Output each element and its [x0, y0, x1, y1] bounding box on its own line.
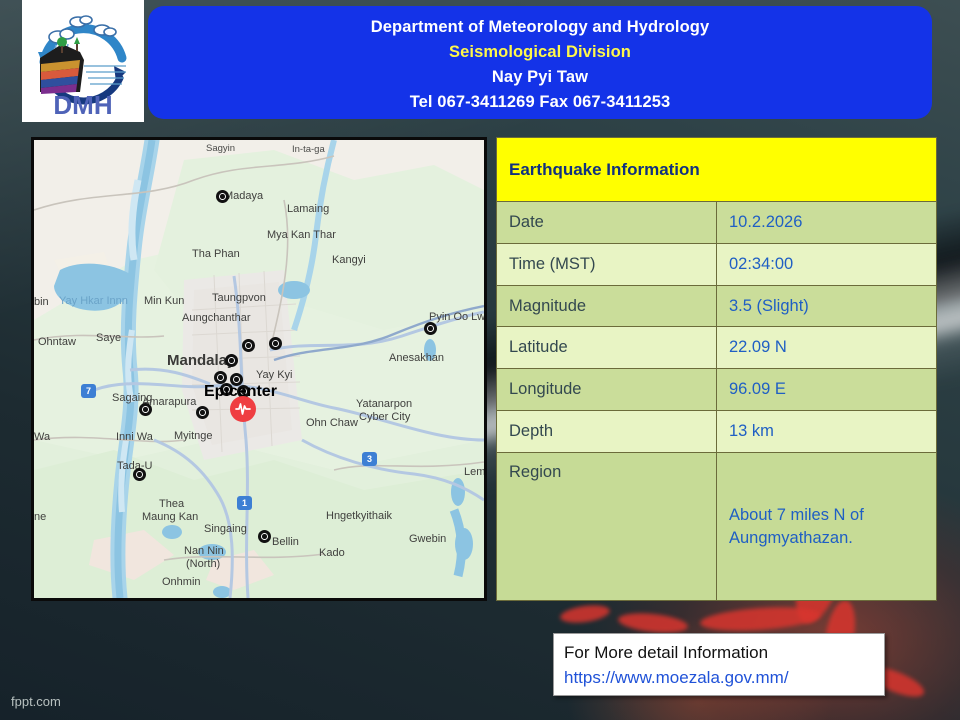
table-title-row: Earthquake Information — [497, 138, 937, 202]
slide-canvas: DMH Department of Meteorology and Hydrol… — [0, 0, 960, 720]
header-line-contact: Tel 067-3411269 Fax 067-3411253 — [410, 90, 671, 115]
map-place-label: Anesakhan — [389, 352, 444, 364]
map-place-label: Ohn Chaw — [306, 417, 358, 429]
map-place-label: Lamaing — [287, 203, 329, 215]
map-place-label: Saye — [96, 332, 121, 344]
header-line-org: Department of Meteorology and Hydrology — [371, 15, 710, 40]
map-place-label: ne — [34, 511, 46, 523]
header-line-division: Seismological Division — [449, 40, 631, 65]
table-row-region: Region About 7 miles N of Aungmyathazan. — [497, 453, 937, 601]
header-banner: Department of Meteorology and Hydrology … — [148, 6, 932, 119]
row-value-date: 10.2.2026 — [717, 202, 937, 244]
table-row-latitude: Latitude 22.09 N — [497, 327, 937, 369]
map-labels-layer: SagyinIn-ta-gaMadayaLamaingMya Kan TharT… — [34, 140, 484, 598]
map-place-label: Maung Kan — [142, 511, 198, 523]
map-place-label: Kangyi — [332, 254, 366, 266]
map-place-label: Yay Hkar Innn — [59, 295, 128, 307]
map-station-marker[interactable] — [269, 337, 282, 350]
map-place-label: Thea — [159, 498, 184, 510]
more-info-link[interactable]: https://www.moezala.gov.mm/ — [564, 665, 874, 691]
map-place-label: Tha Phan — [192, 248, 240, 260]
map-place-label: Singaing — [204, 523, 247, 535]
table-row-magnitude: Magnitude 3.5 (Slight) — [497, 285, 937, 327]
more-information-card[interactable]: For More detail Information https://www.… — [553, 633, 885, 696]
map-place-label: Hngetkyithaik — [326, 510, 392, 522]
table-row-time: Time (MST) 02:34:00 — [497, 243, 937, 285]
map-place-label: In-ta-ga — [292, 144, 325, 155]
table-row-longitude: Longitude 96.09 E — [497, 369, 937, 411]
row-value-magnitude: 3.5 (Slight) — [717, 285, 937, 327]
row-label-date: Date — [497, 202, 717, 244]
table-title: Earthquake Information — [497, 138, 937, 202]
highway-shield-icon: 3 — [362, 452, 377, 466]
map-place-label: Mya Kan Thar — [267, 229, 336, 241]
map-station-marker[interactable] — [424, 322, 437, 335]
fppt-watermark: fppt.com — [11, 694, 61, 709]
map-place-label: Inni Wa — [116, 431, 153, 443]
map-station-marker[interactable] — [242, 339, 255, 352]
map-place-label: Ohntaw — [38, 336, 76, 348]
more-info-title: For More detail Information — [564, 640, 874, 665]
map-place-label: Cyber City — [359, 411, 410, 423]
map-place-label: Gwebin — [409, 533, 446, 545]
map-place-label: Wa — [34, 431, 50, 443]
map-station-marker[interactable] — [258, 530, 271, 543]
map-place-label: Pyin Oo Lw — [429, 311, 485, 323]
table-row-depth: Depth 13 km — [497, 411, 937, 453]
dmh-logo: DMH — [22, 0, 144, 122]
map-place-label: Onhmin — [162, 576, 201, 588]
earthquake-location-map[interactable]: SagyinIn-ta-gaMadayaLamaingMya Kan TharT… — [31, 137, 487, 601]
seismograph-icon — [234, 400, 252, 418]
fault-trace — [559, 603, 611, 626]
row-label-latitude: Latitude — [497, 327, 717, 369]
map-place-label: Min Kun — [144, 295, 184, 307]
map-place-label: Yatanarpon — [356, 398, 412, 410]
map-place-label: Kado — [319, 547, 345, 559]
row-label-region: Region — [497, 453, 717, 601]
map-place-label: (North) — [186, 558, 220, 570]
map-place-label: bin — [34, 296, 49, 308]
map-place-label: Madaya — [224, 190, 263, 202]
map-station-marker[interactable] — [216, 190, 229, 203]
row-label-depth: Depth — [497, 411, 717, 453]
table-row-date: Date 10.2.2026 — [497, 202, 937, 244]
fault-trace — [699, 604, 820, 634]
map-place-label: Nan Nin — [184, 545, 224, 557]
header-line-city: Nay Pyi Taw — [492, 65, 588, 90]
svg-text:DMH: DMH — [53, 90, 112, 120]
highway-shield-icon: 7 — [81, 384, 96, 398]
map-place-label: Myitnge — [174, 430, 213, 442]
dmh-logo-icon: DMH — [22, 0, 144, 122]
row-value-time: 02:34:00 — [717, 243, 937, 285]
map-place-label: Aungchanthar — [182, 312, 251, 324]
map-place-label: Sagyin — [206, 143, 235, 154]
row-value-depth: 13 km — [717, 411, 937, 453]
map-station-marker[interactable] — [139, 403, 152, 416]
row-value-latitude: 22.09 N — [717, 327, 937, 369]
table-body: Earthquake Information Date 10.2.2026 Ti… — [497, 138, 937, 601]
earthquake-information-table: Earthquake Information Date 10.2.2026 Ti… — [496, 137, 937, 601]
highway-shield-icon: 1 — [237, 496, 252, 510]
map-station-marker[interactable] — [133, 468, 146, 481]
row-label-longitude: Longitude — [497, 369, 717, 411]
map-place-label: Taungpvon — [212, 292, 266, 304]
map-place-label: Yay Kyi — [256, 369, 292, 381]
map-place-label: Bellin — [272, 536, 299, 548]
fault-trace — [617, 610, 688, 635]
map-station-marker[interactable] — [225, 354, 238, 367]
row-value-region: About 7 miles N of Aungmyathazan. — [717, 453, 937, 601]
map-station-marker[interactable] — [196, 406, 209, 419]
epicenter-label: Epicenter — [204, 383, 277, 401]
row-value-longitude: 96.09 E — [717, 369, 937, 411]
row-label-magnitude: Magnitude — [497, 285, 717, 327]
map-place-label: Lem — [464, 466, 485, 478]
row-label-time: Time (MST) — [497, 243, 717, 285]
